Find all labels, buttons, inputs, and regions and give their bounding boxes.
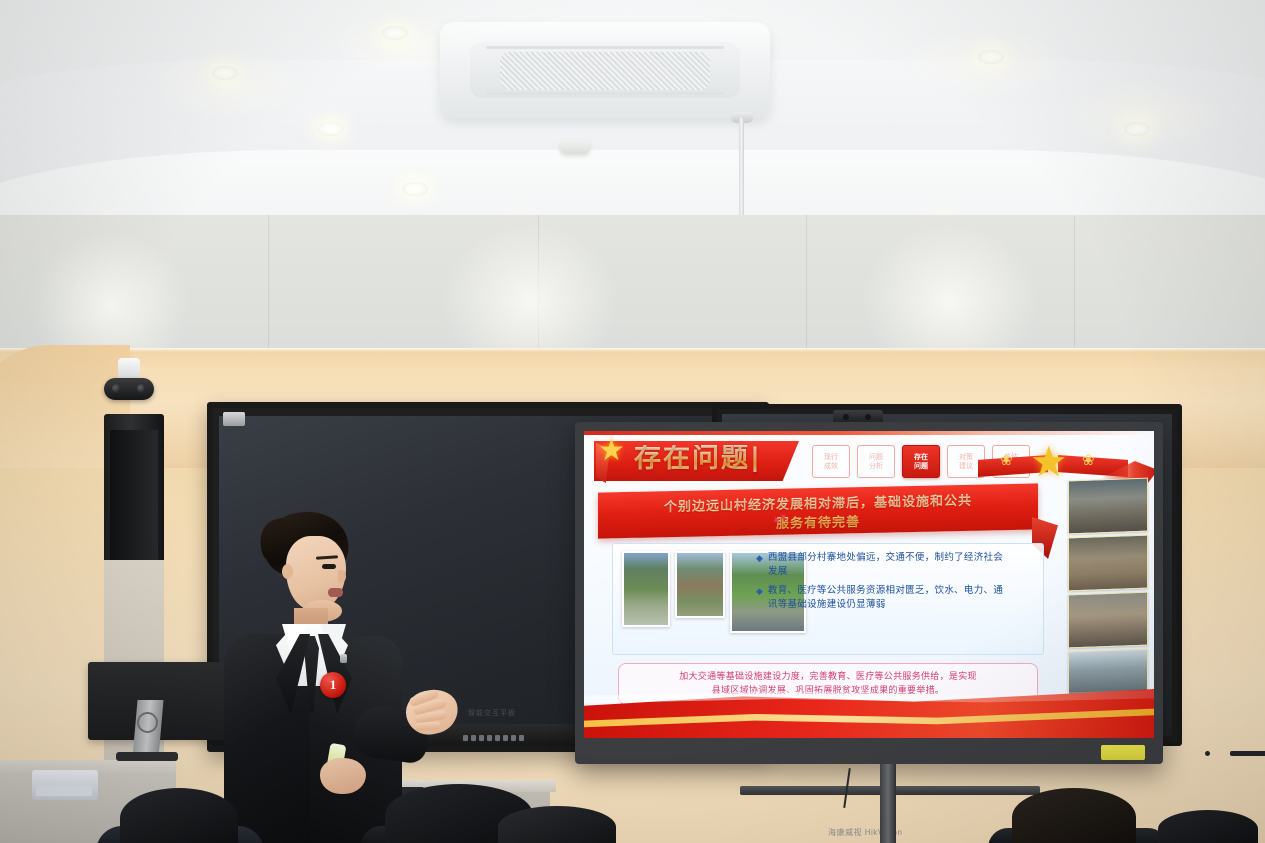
tab-0[interactable]: 现行 成效 <box>812 445 850 478</box>
presenter-nose <box>338 570 346 582</box>
ceiling-downlight <box>1124 122 1150 136</box>
whiteboard-button[interactable] <box>495 735 500 741</box>
list-item: ◆ 西盟县部分村寨地处偏远，交通不便，制约了经济社会发展 <box>756 551 1006 579</box>
wall-panel-seam <box>806 215 807 350</box>
whiteboard-brand-label: 智能交互平板 <box>468 708 516 718</box>
tab-label-line2: 问题 <box>914 462 928 471</box>
gold-star-icon: ★ <box>1030 441 1068 483</box>
whiteboard-button[interactable] <box>487 735 492 741</box>
photo-dry-slope <box>1068 592 1148 649</box>
whiteboard-button[interactable] <box>463 735 468 741</box>
whiteboard-button[interactable] <box>519 735 524 741</box>
conclusion-line-1: 加大交通等基础设施建设力度，完善教育、医疗等公共服务供给，是实现 <box>679 670 977 684</box>
whiteboard-button[interactable] <box>511 735 516 741</box>
contestant-number-badge: 1 <box>320 672 346 698</box>
audience-head <box>120 788 238 843</box>
tab-label-line1: 问题 <box>869 453 883 462</box>
ceiling-downlight <box>212 66 238 80</box>
tab-label-line2: 分析 <box>869 462 883 471</box>
light-wash <box>150 50 310 120</box>
display-sensor-dot <box>1205 751 1210 756</box>
warm-wall-highlight <box>0 348 1265 352</box>
presenter-eye <box>322 564 336 569</box>
tab-2-active[interactable]: 存在 问题 <box>902 445 940 478</box>
page-title-text: 存在问题 <box>634 443 750 474</box>
photo-village-house <box>622 551 670 627</box>
ac-slat <box>486 92 724 95</box>
display-rating-sticker <box>1101 745 1145 760</box>
light-wash <box>1060 80 1230 152</box>
slide-top-accent-line <box>584 431 1154 435</box>
ceiling-downlight <box>978 50 1004 64</box>
whiteboard-button[interactable] <box>503 735 508 741</box>
slide-headline-text: 个别边远山村经济发展相对滞后，基础设施和公共 服务有待完善 <box>598 486 1038 541</box>
bullet-marker-icon: ◆ <box>756 551 763 579</box>
photo-village-panorama <box>675 551 725 618</box>
ceiling-downlight <box>318 122 344 136</box>
bullet-marker-icon: ◆ <box>756 584 763 612</box>
presenter-ear <box>282 564 293 579</box>
dell-logo-icon <box>137 712 158 733</box>
whiteboard-corner-badge <box>223 412 245 426</box>
whiteboard-button[interactable] <box>471 735 476 741</box>
monitor-base <box>116 752 178 761</box>
tab-label-line1: 现行 <box>824 453 838 462</box>
presenter-hand-holding-clicker <box>320 758 366 794</box>
bullet-text: 西盟县部分村寨地处偏远，交通不便，制约了经济社会发展 <box>768 551 1006 579</box>
wall-panel-seam <box>268 215 269 350</box>
smoke-detector-icon <box>560 140 590 154</box>
tab-label-line2: 建议 <box>959 462 973 471</box>
tab-label-line2: 成效 <box>824 462 838 471</box>
whiteboard-button[interactable] <box>479 735 484 741</box>
bullet-text: 教育、医疗等公共服务资源相对匮乏，饮水、电力、通讯等基础设施建设仍显薄弱 <box>768 584 1006 612</box>
headline-line-2: 服务有待完善 <box>776 513 860 534</box>
whiteboard-button-row[interactable] <box>463 735 524 741</box>
wall-camera-icon <box>104 378 154 400</box>
speaker-column-face <box>110 430 158 570</box>
ac-grille <box>500 52 710 90</box>
camera-lens-icon <box>865 414 871 420</box>
tab-1[interactable]: 问题 分析 <box>857 445 895 478</box>
lapel-pin-icon <box>340 654 347 663</box>
presenter-face <box>286 536 346 610</box>
camera-lens-icon <box>112 384 121 393</box>
finger <box>415 721 441 731</box>
camera-lens-icon <box>843 414 849 420</box>
camera-lens-icon <box>137 384 146 393</box>
ceiling-downlight <box>382 26 408 40</box>
screenshot-root: 智能交互平板 ★ 存在问题| <box>0 0 1265 843</box>
page-title: 存在问题| <box>634 445 762 472</box>
slide-bullet-list: ◆ 西盟县部分村寨地处偏远，交通不便，制约了经济社会发展 ◆ 教育、医疗等公共服… <box>756 551 1006 617</box>
ceiling-ac-unit <box>440 22 770 118</box>
star-icon: ★ <box>598 436 625 466</box>
display-vent-slot <box>1230 751 1265 756</box>
slide-canvas: ★ 存在问题| 现行 成效 问题 分析 存在 问题 对策 <box>584 431 1154 738</box>
slide-photo-column-right <box>1068 478 1148 706</box>
ceiling-downlight <box>402 182 428 196</box>
camera-mount <box>118 358 140 380</box>
presentation-display[interactable]: ★ 存在问题| 现行 成效 问题 分析 存在 问题 对策 <box>575 422 1163 764</box>
photo-hillside-trees <box>1068 478 1148 535</box>
tab-label-line1: 对策 <box>959 453 973 462</box>
audience-head <box>498 806 616 843</box>
control-box-panel[interactable] <box>36 786 92 796</box>
wall-panel-seam <box>1074 215 1075 350</box>
display-stand-post <box>880 764 896 843</box>
tab-label-line1: 存在 <box>914 453 928 462</box>
wheat-icon: ❀ <box>1082 451 1095 469</box>
list-item: ◆ 教育、医疗等公共服务资源相对匮乏，饮水、电力、通讯等基础设施建设仍显薄弱 <box>756 584 1006 612</box>
ac-slat <box>486 46 724 49</box>
presenter-mouth <box>328 588 343 597</box>
upper-wall-panels <box>0 215 1265 350</box>
audience-head <box>1012 788 1136 843</box>
ceiling <box>0 0 1265 215</box>
photo-slope-woodland <box>1068 535 1148 592</box>
wheat-icon: ❀ <box>1000 451 1013 469</box>
audience-head <box>1158 810 1258 843</box>
page-title-suffix: | <box>750 443 762 474</box>
